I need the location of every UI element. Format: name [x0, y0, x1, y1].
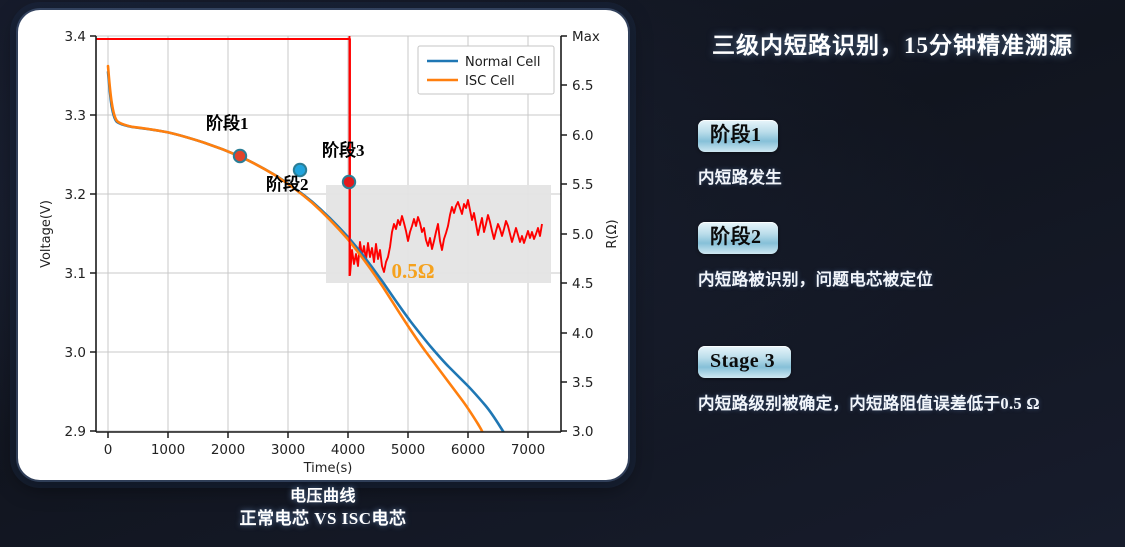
chart-legend[interactable]: Normal Cell ISC Cell: [418, 46, 554, 94]
x-tick-1000: 1000: [151, 442, 185, 458]
x-tick-7000: 7000: [511, 442, 545, 458]
stage-badge-1[interactable]: 阶段1: [698, 120, 778, 152]
x-tick-0: 0: [104, 442, 113, 458]
stage-block-2: 阶段2 内短路被识别，问题电芯被定位: [698, 222, 1118, 290]
r-tick-5.5: 5.5: [572, 177, 593, 193]
caption-title: 电压曲线: [18, 486, 628, 508]
voltage-curve-chart-card: 阶段1 阶段2 阶段3 0.5Ω 3.4 3.3 3.2 3.1 3.0 2.9: [18, 10, 628, 480]
r-tick-6.5: 6.5: [572, 78, 593, 94]
stage-block-3: Stage 3 内短路级别被确定，内短路阻值误差低于0.5 Ω: [698, 346, 1118, 414]
r-tick-6.0: 6.0: [572, 128, 593, 144]
x-axis-ticks: [108, 432, 528, 438]
y-axis-left-ticks: [90, 36, 96, 431]
x-tick-2000: 2000: [211, 442, 245, 458]
stage-description-3: 内短路级别被确定，内短路阻值误差低于0.5 Ω: [698, 390, 1118, 414]
y-tick-3.0: 3.0: [65, 345, 86, 361]
annotation-stage-3: 阶段3: [322, 140, 365, 160]
marker-stage-3[interactable]: [343, 176, 355, 188]
y-tick-3.2: 3.2: [65, 187, 86, 203]
stage-description-1: 内短路发生: [698, 164, 1118, 188]
chart-caption: 电压曲线 正常电芯 VS ISC电芯: [18, 486, 628, 531]
stage-badge-2[interactable]: 阶段2: [698, 222, 778, 254]
x-tick-4000: 4000: [331, 442, 365, 458]
y-axis-right-ticks: [561, 36, 567, 431]
x-axis-title: Time(s): [303, 461, 353, 476]
marker-stage-1[interactable]: [234, 150, 246, 162]
y-tick-3.4: 3.4: [65, 29, 86, 45]
r-tick-4.0: 4.0: [572, 326, 593, 342]
headline: 三级内短路识别，15分钟精准溯源: [712, 26, 1125, 60]
annotation-stage-1: 阶段1: [206, 113, 249, 133]
y-axis-title: Voltage(V): [39, 200, 54, 268]
stages-panel: 三级内短路识别，15分钟精准溯源 阶段1 内短路发生 阶段2 内短路被识别，问题…: [660, 0, 1125, 547]
stage-badge-3[interactable]: Stage 3: [698, 346, 791, 378]
r-tick-4.5: 4.5: [572, 276, 593, 292]
r-tick-3.0: 3.0: [572, 424, 593, 440]
legend-label-normal-cell: Normal Cell: [465, 55, 540, 70]
legend-label-isc-cell: ISC Cell: [465, 74, 515, 89]
y-tick-2.9: 2.9: [65, 424, 86, 440]
annotation-stage-2: 阶段2: [266, 174, 309, 194]
annotation-ohm: 0.5Ω: [391, 259, 434, 283]
x-tick-3000: 3000: [271, 442, 305, 458]
r-tick-5.0: 5.0: [572, 227, 593, 243]
voltage-curve-chart: 阶段1 阶段2 阶段3 0.5Ω 3.4 3.3 3.2 3.1 3.0 2.9: [18, 10, 628, 480]
y-tick-3.1: 3.1: [65, 266, 86, 282]
stage-block-1: 阶段1 内短路发生: [698, 120, 1118, 188]
y-tick-3.3: 3.3: [65, 108, 86, 124]
r-tick-3.5: 3.5: [572, 375, 593, 391]
x-tick-5000: 5000: [391, 442, 425, 458]
x-tick-6000: 6000: [451, 442, 485, 458]
r-tick-max: Max: [572, 29, 600, 45]
r-axis-title: R(Ω): [605, 219, 620, 248]
caption-subtitle: 正常电芯 VS ISC电芯: [18, 508, 628, 531]
stage-description-2: 内短路被识别，问题电芯被定位: [698, 266, 1118, 290]
